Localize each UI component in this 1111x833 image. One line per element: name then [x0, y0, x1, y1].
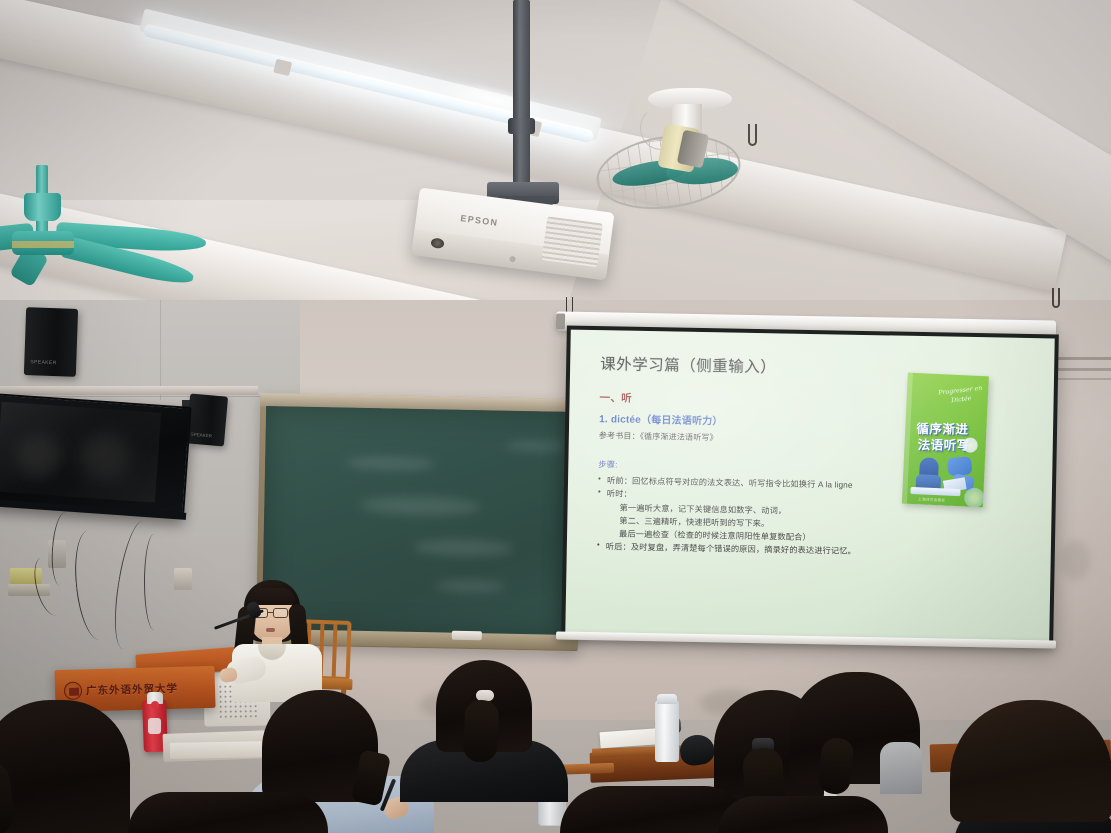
wall-smudge	[1060, 540, 1090, 580]
student	[790, 672, 930, 802]
university-emblem-icon	[64, 681, 82, 699]
classroom-photo: EPSON SPEAKER	[0, 0, 1111, 833]
student-hair	[718, 796, 888, 833]
wall-speaker-right: SPEAKER	[186, 393, 228, 446]
chalk-residue	[345, 456, 435, 472]
student	[128, 792, 328, 833]
wall-hook-icon	[1052, 288, 1060, 308]
light-bracket	[273, 59, 292, 76]
speaker-badge: SPEAKER	[190, 432, 212, 439]
student-ponytail	[400, 660, 580, 800]
roller-end-cap	[556, 313, 565, 329]
student-hair	[128, 792, 328, 833]
wall-seam	[160, 300, 161, 400]
glasses-bridge	[267, 612, 274, 613]
glasses-icon	[273, 608, 288, 618]
university-name: 广东外语外贸大学	[86, 681, 178, 699]
presenter-mouth	[266, 628, 275, 632]
fan-hub-ring	[12, 241, 74, 248]
emblem-inner	[69, 688, 79, 696]
projector-brand-label: EPSON	[460, 213, 499, 228]
chalk-residue	[413, 539, 513, 557]
student-shirt	[880, 742, 922, 794]
chalk-residue	[435, 579, 505, 592]
chalk-residue	[360, 496, 480, 516]
student-hair-strand	[817, 736, 855, 795]
projection-screen-surface: 课外学习篇（侧重输入） 一、听 1. dictée（每日法语听力） 参考书目：《…	[565, 330, 1054, 643]
blackboard-eraser[interactable]	[452, 631, 482, 641]
ceiling-hook-icon	[748, 124, 757, 146]
fan-canopy	[24, 193, 61, 221]
speaker-badge: SPEAKER	[30, 359, 57, 366]
thermos-button	[151, 701, 159, 709]
chalk-residue	[505, 441, 565, 452]
university-plaque: 广东外语外贸大学	[64, 676, 207, 702]
cable	[144, 534, 164, 630]
projector-vent	[542, 216, 603, 267]
epson-projector: EPSON	[412, 187, 615, 278]
student-hair	[950, 700, 1111, 822]
student	[950, 700, 1111, 833]
screen-sheen	[565, 330, 1054, 643]
student-hair	[0, 700, 130, 833]
student-ponytail-hair	[462, 699, 499, 763]
ceiling-fan-caged	[588, 88, 753, 213]
wall-speaker-left: SPEAKER	[24, 307, 78, 377]
projection-screen: 课外学习篇（侧重输入） 一、听 1. dictée（每日法语听力） 参考书目：《…	[561, 326, 1059, 647]
projector-pole-joint	[508, 118, 535, 134]
presenter-teacher	[222, 580, 340, 700]
wall-ledge	[0, 386, 258, 395]
light-switch	[174, 568, 192, 590]
wall-tv-display[interactable]	[0, 393, 192, 518]
student	[718, 796, 888, 833]
ceiling: EPSON	[0, 0, 1111, 345]
bottle-cap	[657, 694, 677, 704]
thermos-bottle	[655, 700, 679, 762]
projector-pole	[513, 0, 530, 190]
